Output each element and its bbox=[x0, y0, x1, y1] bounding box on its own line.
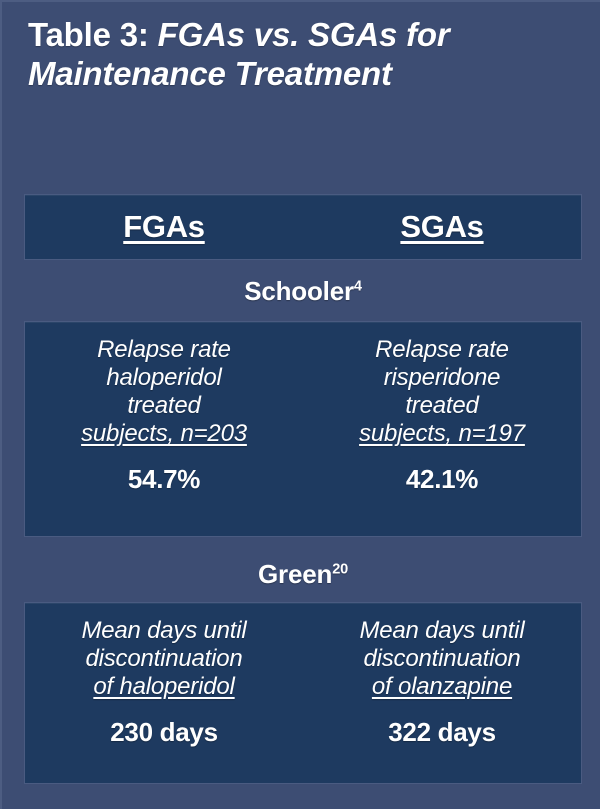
cell-description-line-underlined: subjects, n=203 bbox=[81, 420, 247, 447]
cell-description-line: Mean days until bbox=[311, 617, 573, 645]
cell-description-line: Relapse rate bbox=[33, 336, 295, 364]
cell-description-line: risperidone bbox=[311, 364, 573, 392]
cell-description-line: discontinuation bbox=[311, 645, 573, 673]
study-name: Schooler bbox=[244, 276, 354, 306]
cell-value: 54.7% bbox=[33, 464, 295, 495]
study-panel-green: Mean days until discontinuation of halop… bbox=[24, 602, 582, 784]
cell-description-line-underlined: subjects, n=197 bbox=[359, 420, 525, 447]
table-header-row: FGAs SGAs bbox=[24, 194, 582, 260]
cell-description: Mean days until discontinuation of olanz… bbox=[311, 617, 573, 701]
column-header-label: FGAs bbox=[123, 209, 204, 244]
table-cell-schooler-fgas: Relapse rate haloperidol treated subject… bbox=[25, 322, 303, 495]
table-cell-green-fgas: Mean days until discontinuation of halop… bbox=[25, 603, 303, 748]
cell-description-line: haloperidol bbox=[33, 364, 295, 392]
column-header-sgas: SGAs bbox=[303, 209, 581, 245]
page-title: Table 3: FGAs vs. SGAs for Maintenance T… bbox=[28, 16, 576, 94]
study-reference: 4 bbox=[354, 278, 362, 294]
study-label-green: Green20 bbox=[24, 559, 582, 590]
cell-description-line: Relapse rate bbox=[311, 336, 573, 364]
cell-description: Relapse rate risperidone treated subject… bbox=[311, 336, 573, 448]
cell-description-line: Mean days until bbox=[33, 617, 295, 645]
cell-description-line-underlined: of haloperidol bbox=[93, 673, 234, 700]
cell-description: Relapse rate haloperidol treated subject… bbox=[33, 336, 295, 448]
table-figure: Table 3: FGAs vs. SGAs for Maintenance T… bbox=[0, 0, 600, 809]
cell-value: 42.1% bbox=[311, 464, 573, 495]
cell-description-line-underlined: of olanzapine bbox=[372, 673, 512, 700]
table-cell-schooler-sgas: Relapse rate risperidone treated subject… bbox=[303, 322, 581, 495]
cell-description-line: treated bbox=[33, 392, 295, 420]
column-header-label: SGAs bbox=[400, 209, 483, 244]
title-prefix: Table 3: bbox=[28, 16, 158, 53]
cell-value: 322 days bbox=[311, 717, 573, 748]
study-name: Green bbox=[258, 559, 332, 589]
column-header-fgas: FGAs bbox=[25, 209, 303, 245]
study-label-schooler: Schooler4 bbox=[24, 276, 582, 307]
cell-value: 230 days bbox=[33, 717, 295, 748]
cell-description-line: treated bbox=[311, 392, 573, 420]
cell-description: Mean days until discontinuation of halop… bbox=[33, 617, 295, 701]
table-cell-green-sgas: Mean days until discontinuation of olanz… bbox=[303, 603, 581, 748]
cell-description-line: discontinuation bbox=[33, 645, 295, 673]
study-reference: 20 bbox=[332, 561, 348, 577]
study-panel-schooler: Relapse rate haloperidol treated subject… bbox=[24, 321, 582, 537]
